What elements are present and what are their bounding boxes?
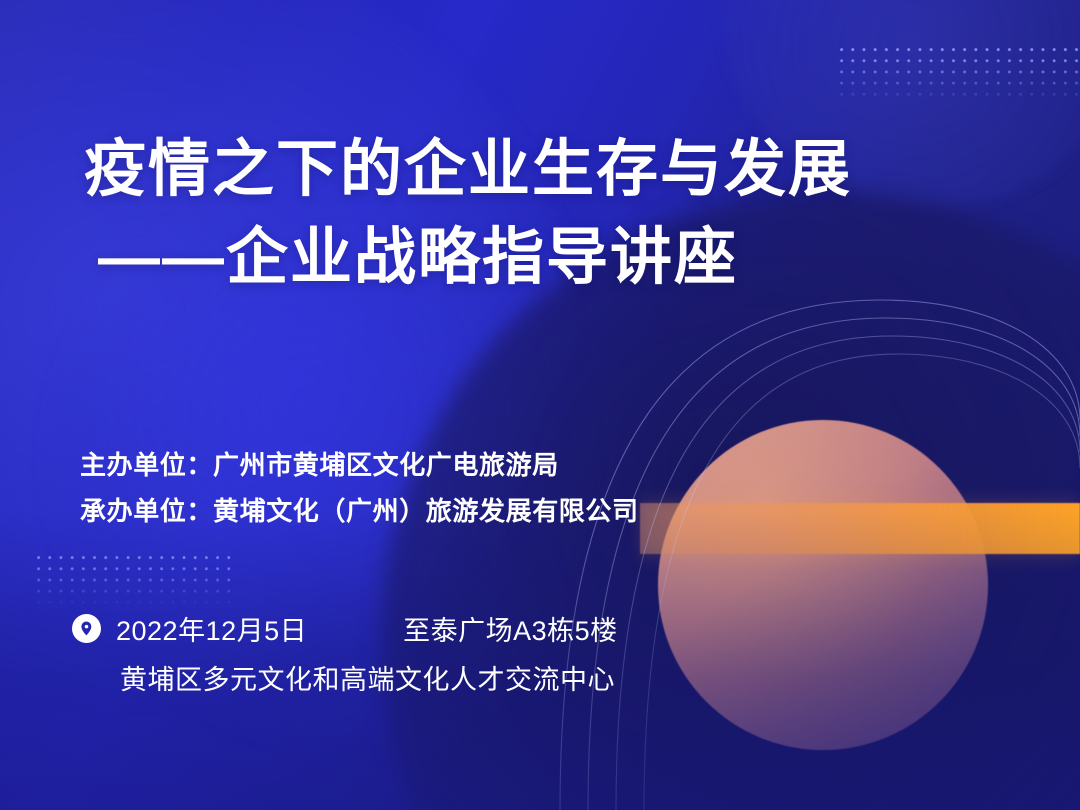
- organizer-block: 主办单位：广州市黄埔区文化广电旅游局 承办单位：黄埔文化（广州）旅游发展有限公司: [80, 442, 639, 535]
- event-info-row-primary: 2022年12月5日 至泰广场A3栋5楼: [72, 608, 618, 648]
- event-venue: 至泰广场A3栋5楼: [403, 609, 618, 648]
- event-info-block: 2022年12月5日 至泰广场A3栋5楼 黄埔区多元文化和高端文化人才交流中心: [72, 608, 618, 697]
- title-line-primary: 疫情之下的企业生存与发展: [84, 126, 1024, 214]
- host-organization-line: 主办单位：广州市黄埔区文化广电旅游局: [80, 442, 639, 488]
- title-line-subtitle: ——企业战略指导讲座: [84, 214, 1024, 302]
- event-date: 2022年12月5日: [116, 609, 307, 648]
- event-center-name: 黄埔区多元文化和高端文化人才交流中心: [120, 665, 615, 695]
- title-block: 疫情之下的企业生存与发展 ——企业战略指导讲座: [84, 126, 1024, 302]
- co-organizer-line: 承办单位：黄埔文化（广州）旅游发展有限公司: [80, 488, 639, 534]
- poster-content: 疫情之下的企业生存与发展 ——企业战略指导讲座 主办单位：广州市黄埔区文化广电旅…: [0, 0, 1080, 810]
- map-pin-icon: [72, 614, 101, 643]
- event-info-row-secondary: 黄埔区多元文化和高端文化人才交流中心: [72, 658, 618, 697]
- event-poster: 疫情之下的企业生存与发展 ——企业战略指导讲座 主办单位：广州市黄埔区文化广电旅…: [0, 0, 1080, 810]
